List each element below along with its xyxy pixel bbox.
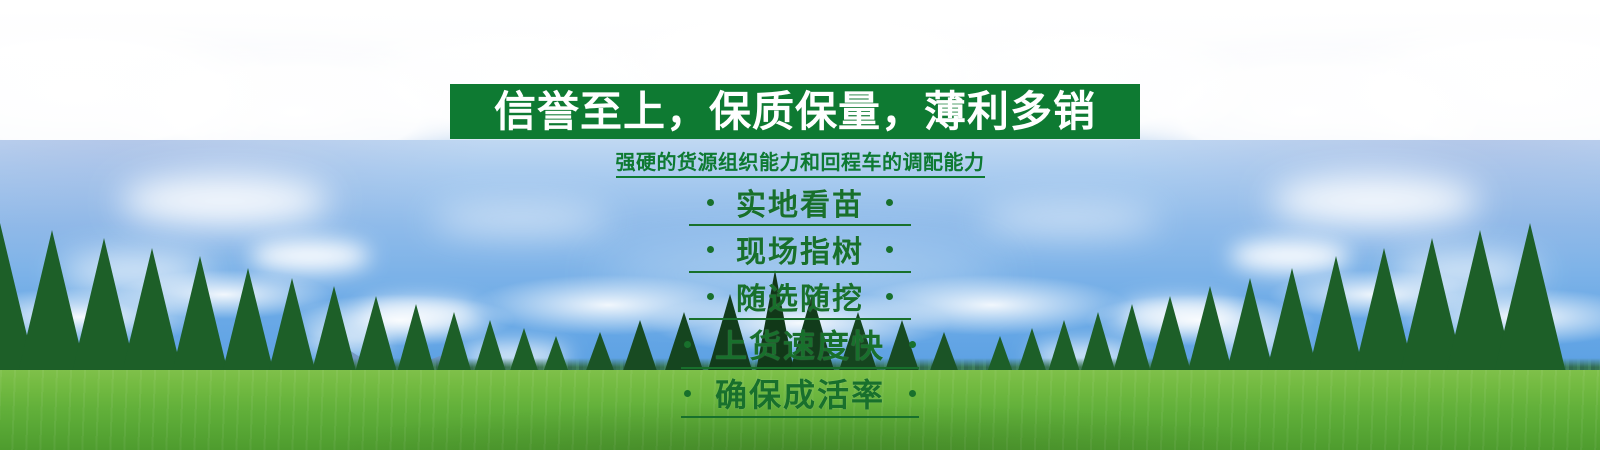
subheadline: 强硬的货源组织能力和回程车的调配能力 xyxy=(0,146,1600,175)
feature-label: 上货速度快 xyxy=(715,321,885,367)
bullet-dot-icon xyxy=(707,246,714,253)
bullet-dot-icon xyxy=(886,293,893,300)
feature-label: 随选随挖 xyxy=(736,274,864,318)
bullet-dot-icon xyxy=(707,199,714,206)
subheadline-text: 强硬的货源组织能力和回程车的调配能力 xyxy=(616,152,985,178)
bullet-dot-icon xyxy=(684,341,691,348)
feature-item: 随选随挖 xyxy=(0,274,1600,318)
feature-divider xyxy=(681,416,919,418)
bullet-dot-icon xyxy=(909,390,916,397)
bullet-dot-icon xyxy=(909,341,916,348)
feature-item: 实地看苗 xyxy=(0,180,1600,224)
promo-banner: 信誉至上，保质保量，薄利多销 强硬的货源组织能力和回程车的调配能力 实地看苗 现… xyxy=(0,0,1600,450)
feature-divider xyxy=(689,271,911,273)
headline-bar: 信誉至上，保质保量，薄利多销 xyxy=(450,84,1140,139)
bullet-dot-icon xyxy=(886,199,893,206)
feature-label: 确保成活率 xyxy=(715,370,885,416)
banner-content: 信誉至上，保质保量，薄利多销 强硬的货源组织能力和回程车的调配能力 实地看苗 现… xyxy=(0,0,1600,450)
feature-item: 现场指树 xyxy=(0,227,1600,271)
feature-divider xyxy=(689,224,911,226)
feature-label: 实地看苗 xyxy=(736,180,864,224)
bullet-dot-icon xyxy=(707,293,714,300)
headline-text: 信誉至上，保质保量，薄利多销 xyxy=(494,91,1096,133)
bullet-dot-icon xyxy=(886,246,893,253)
feature-divider xyxy=(681,367,919,369)
feature-label: 现场指树 xyxy=(736,227,864,271)
feature-list: 实地看苗 现场指树 随选随挖 上货速度快 xyxy=(0,180,1600,419)
feature-divider xyxy=(689,318,911,320)
feature-item: 上货速度快 xyxy=(0,321,1600,367)
bullet-dot-icon xyxy=(684,390,691,397)
feature-item: 确保成活率 xyxy=(0,370,1600,416)
